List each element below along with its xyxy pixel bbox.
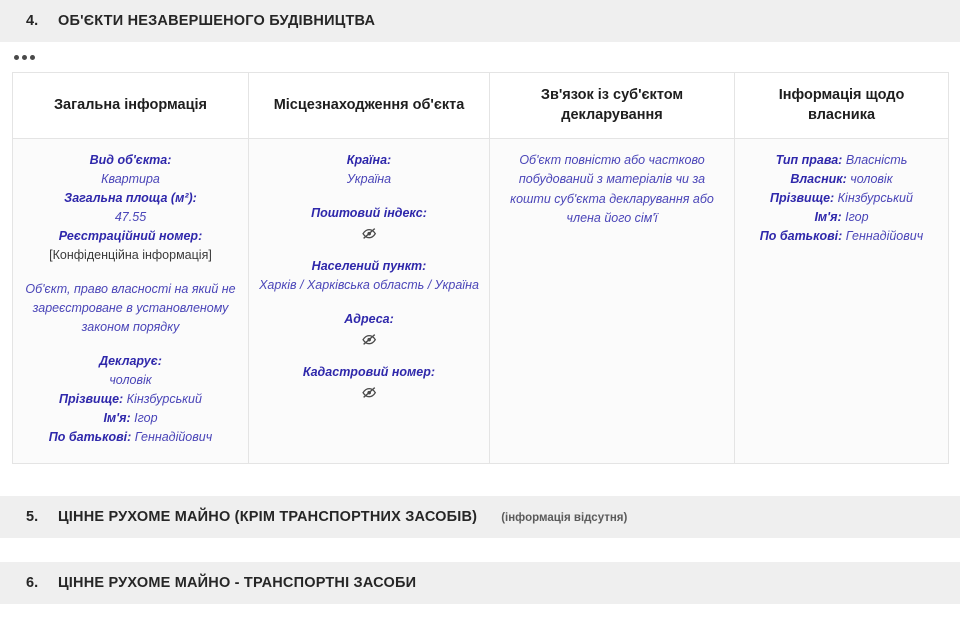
- value-locality-row: Харків / Харківська область / Україна: [259, 276, 479, 295]
- value-country-row: Україна: [259, 170, 479, 189]
- spacer: [23, 265, 238, 280]
- value-registration-number-row: [Конфіденційна інформація]: [23, 246, 238, 265]
- label-country: Країна:: [347, 153, 391, 167]
- section-number-4: 4.: [26, 13, 58, 29]
- value-name-owner: Ігор: [845, 210, 868, 224]
- label-owner: Власник:: [790, 172, 846, 186]
- section-title-5: ЦІННЕ РУХОМЕ МАЙНО (КРІМ ТРАНСПОРТНИХ ЗА…: [58, 509, 477, 525]
- field-surname-owner: Прізвище: Кінзбурський: [745, 189, 938, 208]
- field-object-type: Вид об'єкта:: [23, 151, 238, 170]
- label-locality: Населений пункт:: [312, 259, 427, 273]
- options-row: [0, 42, 960, 72]
- cell-relation-to-declarant: Об'єкт повністю або частково побудований…: [490, 139, 735, 464]
- section-header-5: 5. ЦІННЕ РУХОМЕ МАЙНО (КРІМ ТРАНСПОРТНИХ…: [0, 496, 960, 538]
- value-postal-code-row: [259, 223, 479, 242]
- label-surname-declarant: Прізвище:: [59, 392, 123, 406]
- section-number-6: 6.: [26, 575, 58, 591]
- value-country: Україна: [347, 172, 391, 186]
- section-title-4: ОБ'ЄКТИ НЕЗАВЕРШЕНОГО БУДІВНИЦТВА: [58, 13, 375, 29]
- field-total-area: Загальна площа (м²):: [23, 189, 238, 208]
- cell-object-location: Країна: Україна Поштовий індекс:: [249, 139, 490, 464]
- value-locality: Харків / Харківська область / Україна: [259, 278, 479, 292]
- value-surname-declarant: Кінзбурський: [127, 392, 202, 406]
- value-registration-number: [Конфіденційна інформація]: [49, 248, 212, 262]
- column-header-relation-to-declarant: Зв'язок із суб'єктом декларування: [490, 73, 735, 139]
- spacer: [0, 464, 960, 496]
- dot-3: [30, 55, 35, 60]
- section-header-6: 6. ЦІННЕ РУХОМЕ МАЙНО - ТРАНСПОРТНІ ЗАСО…: [0, 562, 960, 604]
- field-right-type: Тип права: Власність: [745, 151, 938, 170]
- label-patronymic-owner: По батькові:: [760, 229, 842, 243]
- value-surname-owner: Кінзбурський: [838, 191, 913, 205]
- field-registration-number: Реєстраційний номер:: [23, 227, 238, 246]
- section-title-6: ЦІННЕ РУХОМЕ МАЙНО - ТРАНСПОРТНІ ЗАСОБИ: [58, 575, 416, 591]
- value-right-type: Власність: [846, 153, 907, 167]
- field-name-owner: Ім'я: Ігор: [745, 208, 938, 227]
- column-header-general-info: Загальна інформація: [13, 73, 249, 139]
- value-object-type-row: Квартира: [23, 170, 238, 189]
- hidden-eye-icon[interactable]: [360, 385, 378, 400]
- label-address: Адреса:: [344, 312, 394, 326]
- note-unregistered-ownership: Об'єкт, право власності на який не зареє…: [25, 282, 235, 334]
- value-address-row: [259, 329, 479, 348]
- value-declares: чоловік: [109, 373, 151, 387]
- declaration-table: Загальна інформація Місцезнаходження об'…: [12, 72, 949, 464]
- spacer: [0, 538, 960, 562]
- label-registration-number: Реєстраційний номер:: [59, 229, 202, 243]
- label-name-declarant: Ім'я:: [103, 411, 130, 425]
- spacer: [259, 295, 479, 310]
- label-right-type: Тип права:: [776, 153, 843, 167]
- note-unregistered-ownership-row: Об'єкт, право власності на який не зареє…: [23, 280, 238, 337]
- declaration-page: 4. ОБ'ЄКТИ НЕЗАВЕРШЕНОГО БУДІВНИЦТВА Заг…: [0, 0, 960, 634]
- declaration-table-wrapper: Загальна інформація Місцезнаходження об'…: [0, 72, 960, 464]
- cell-general-info: Вид об'єкта: Квартира Загальна площа (м²…: [13, 139, 249, 464]
- field-owner: Власник: чоловік: [745, 170, 938, 189]
- value-total-area-row: 47.55: [23, 208, 238, 227]
- label-declares: Декларує:: [99, 354, 162, 368]
- value-cadastral-number-row: [259, 382, 479, 401]
- spacer: [23, 337, 238, 352]
- more-options-icon[interactable]: [12, 51, 37, 64]
- column-header-object-location: Місцезнаходження об'єкта: [249, 73, 490, 139]
- label-cadastral-number: Кадастровий номер:: [303, 365, 435, 379]
- label-surname-owner: Прізвище:: [770, 191, 834, 205]
- field-patronymic-declarant: По батькові: Геннадійович: [23, 428, 238, 447]
- value-declares-row: чоловік: [23, 371, 238, 390]
- value-patronymic-declarant: Геннадійович: [135, 430, 212, 444]
- dot-1: [14, 55, 19, 60]
- relation-description: Об'єкт повністю або частково побудований…: [500, 151, 724, 229]
- hidden-eye-icon[interactable]: [360, 332, 378, 347]
- hidden-eye-icon[interactable]: [360, 226, 378, 241]
- field-country: Країна:: [259, 151, 479, 170]
- field-declares: Декларує:: [23, 352, 238, 371]
- field-address: Адреса:: [259, 310, 479, 329]
- column-header-owner-info: Інформація щодо власника: [735, 73, 949, 139]
- value-total-area: 47.55: [115, 210, 146, 224]
- section-number-5: 5.: [26, 509, 58, 525]
- table-header-row: Загальна інформація Місцезнаходження об'…: [13, 73, 949, 139]
- field-name-declarant: Ім'я: Ігор: [23, 409, 238, 428]
- field-surname-declarant: Прізвище: Кінзбурський: [23, 390, 238, 409]
- label-postal-code: Поштовий індекс:: [311, 206, 427, 220]
- dot-2: [22, 55, 27, 60]
- spacer: [259, 189, 479, 204]
- cell-owner-info: Тип права: Власність Власник: чоловік Пр…: [735, 139, 949, 464]
- section-header-4: 4. ОБ'ЄКТИ НЕЗАВЕРШЕНОГО БУДІВНИЦТВА: [0, 0, 960, 42]
- value-owner: чоловік: [850, 172, 892, 186]
- spacer: [259, 348, 479, 363]
- table-row: Вид об'єкта: Квартира Загальна площа (м²…: [13, 139, 949, 464]
- field-locality: Населений пункт:: [259, 257, 479, 276]
- value-object-type: Квартира: [101, 172, 160, 186]
- section-note-5: (інформація відсутня): [501, 512, 627, 524]
- label-patronymic-declarant: По батькові:: [49, 430, 131, 444]
- label-name-owner: Ім'я:: [814, 210, 841, 224]
- field-postal-code: Поштовий індекс:: [259, 204, 479, 223]
- value-patronymic-owner: Геннадійович: [846, 229, 923, 243]
- value-name-declarant: Ігор: [134, 411, 157, 425]
- field-patronymic-owner: По батькові: Геннадійович: [745, 227, 938, 246]
- field-cadastral-number: Кадастровий номер:: [259, 363, 479, 382]
- spacer: [259, 242, 479, 257]
- label-object-type: Вид об'єкта:: [90, 153, 172, 167]
- label-total-area: Загальна площа (м²):: [64, 191, 197, 205]
